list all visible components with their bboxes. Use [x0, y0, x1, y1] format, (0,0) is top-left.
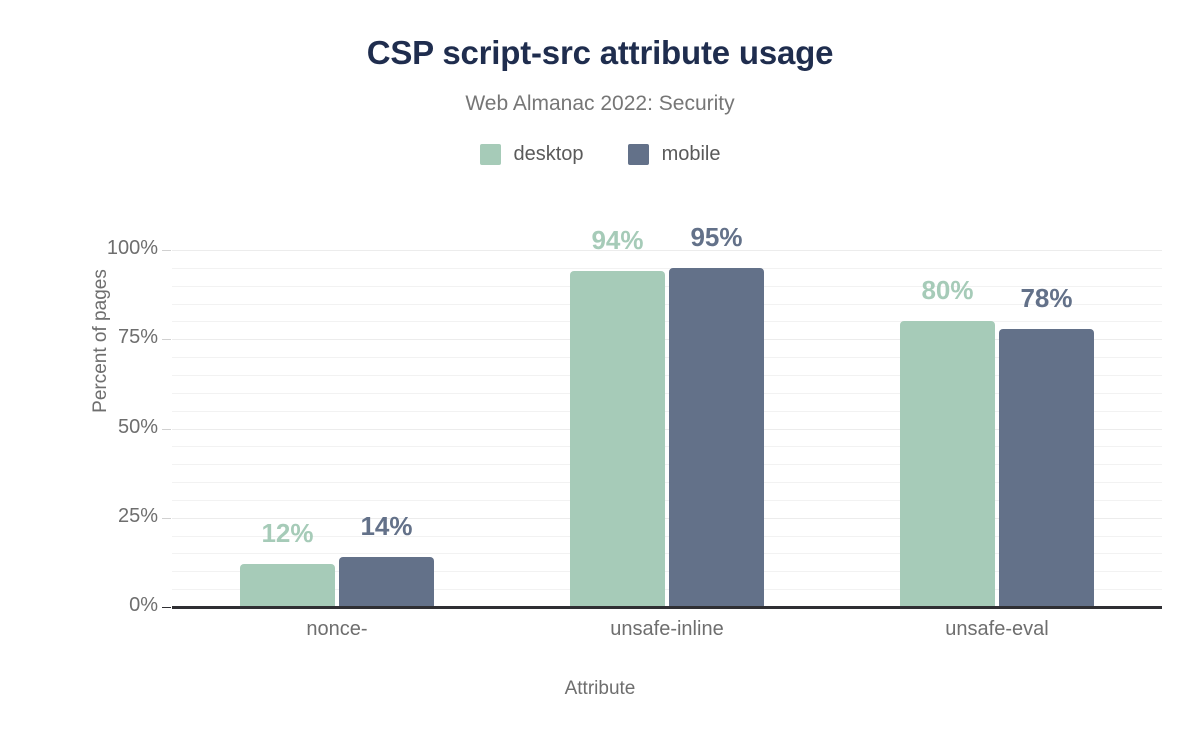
bar-value-label-desktop-unsafe-eval: 80%: [890, 275, 1005, 306]
chart-title: CSP script-src attribute usage: [0, 34, 1200, 72]
legend-label-desktop: desktop: [514, 143, 584, 166]
y-axis-tick-label: 100%: [68, 237, 158, 260]
chart-subtitle: Web Almanac 2022: Security: [0, 92, 1200, 116]
y-axis-tick-label: 0%: [68, 594, 158, 617]
x-axis-title: Attribute: [0, 678, 1200, 700]
bar-value-label-mobile-nonce-: 14%: [329, 511, 444, 542]
bar-value-label-mobile-unsafe-inline: 95%: [659, 222, 774, 253]
gridline: [172, 268, 1162, 269]
x-axis-tick-label: unsafe-inline: [517, 618, 817, 641]
bar-value-label-mobile-unsafe-eval: 78%: [989, 283, 1104, 314]
chart-legend: desktopmobile: [0, 143, 1200, 166]
y-axis-tick-label: 25%: [68, 505, 158, 528]
y-axis-tick-mark: [162, 607, 171, 608]
bar-desktop-unsafe-inline[interactable]: [570, 271, 665, 607]
legend-item-desktop[interactable]: desktop: [480, 143, 584, 166]
x-axis-line: [172, 606, 1162, 609]
legend-swatch-desktop: [480, 144, 501, 165]
y-axis-tick-label: 75%: [68, 326, 158, 349]
bar-desktop-unsafe-eval[interactable]: [900, 321, 995, 607]
y-axis-tick-mark: [162, 429, 171, 430]
legend-label-mobile: mobile: [662, 143, 721, 166]
bar-value-label-desktop-unsafe-inline: 94%: [560, 225, 675, 256]
bar-chart: CSP script-src attribute usage Web Alman…: [0, 0, 1200, 742]
y-axis-tick-label: 50%: [68, 416, 158, 439]
y-axis-tick-mark: [162, 339, 171, 340]
legend-swatch-mobile: [628, 144, 649, 165]
y-axis-tick-mark: [162, 518, 171, 519]
x-axis-tick-label: unsafe-eval: [847, 618, 1147, 641]
bar-mobile-nonce-[interactable]: [339, 557, 434, 607]
bar-desktop-nonce-[interactable]: [240, 564, 335, 607]
bar-mobile-unsafe-eval[interactable]: [999, 329, 1094, 607]
bar-value-label-desktop-nonce-: 12%: [230, 518, 345, 549]
x-axis-tick-label: nonce-: [187, 618, 487, 641]
legend-item-mobile[interactable]: mobile: [628, 143, 721, 166]
y-axis-tick-mark: [162, 250, 171, 251]
bar-mobile-unsafe-inline[interactable]: [669, 268, 764, 607]
gridline: [172, 321, 1162, 322]
